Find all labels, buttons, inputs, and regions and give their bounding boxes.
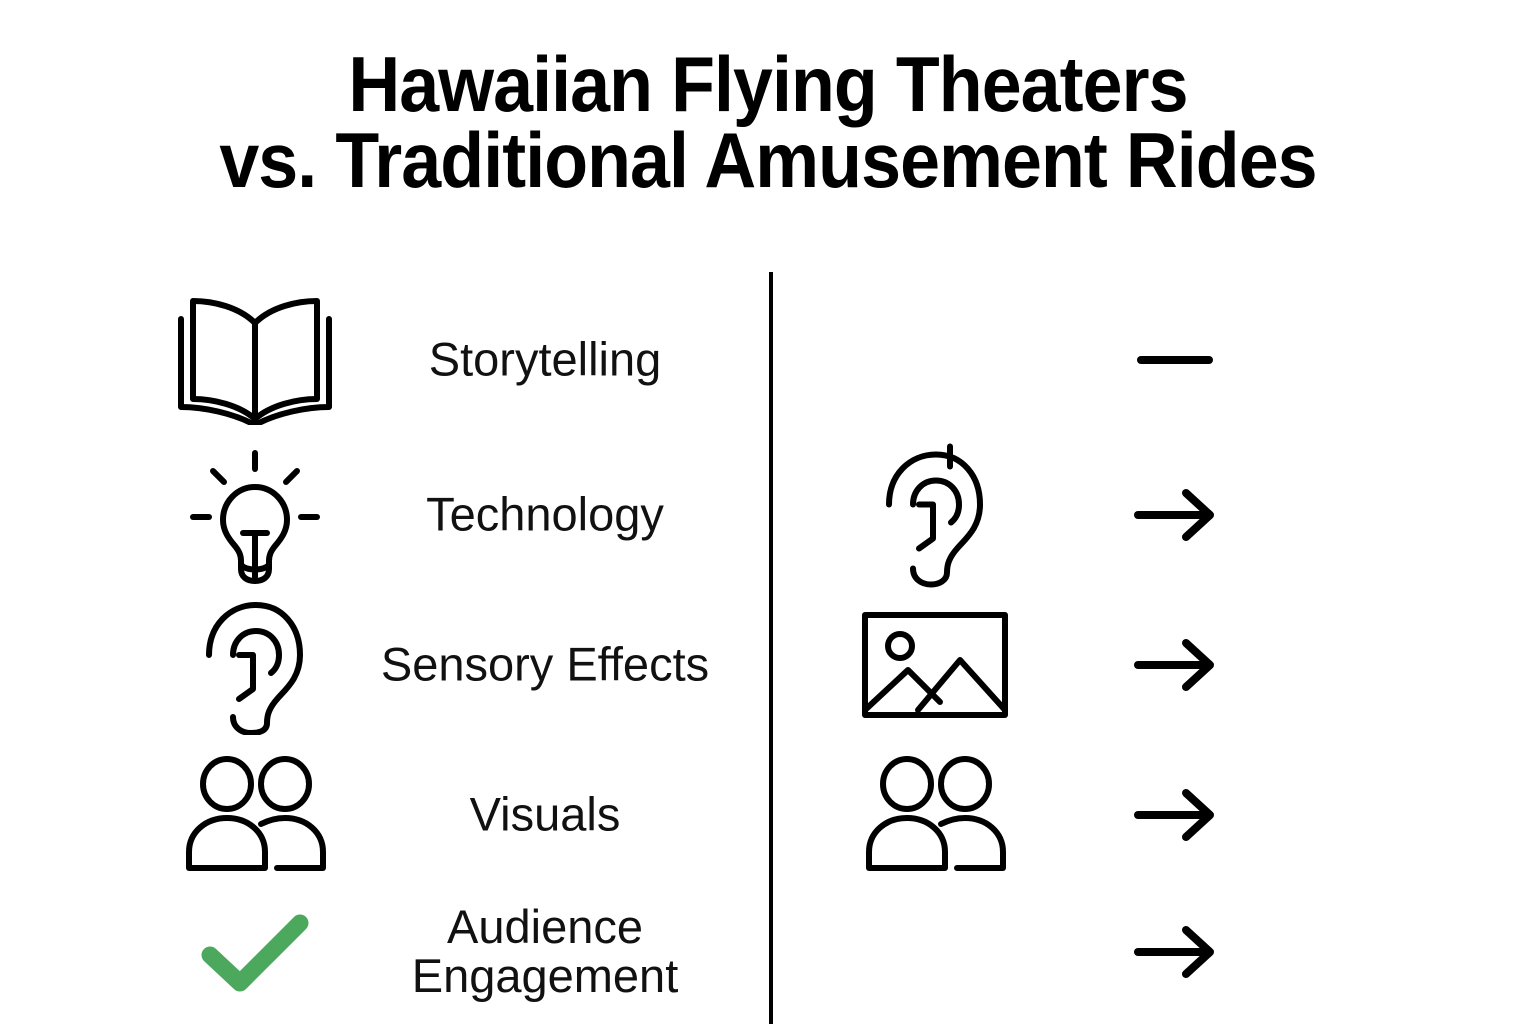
row-label-line-1: Audience — [345, 903, 745, 952]
title-line-1: Hawaiian Flying Theaters — [61, 46, 1474, 122]
comparison-table: Storytelling Technology — [0, 272, 1536, 1024]
people-icon — [170, 756, 340, 874]
table-row: Audience Engagement — [0, 880, 1536, 1024]
open-book-icon — [170, 295, 340, 425]
row-label-line-2: Engagement — [345, 952, 745, 1001]
row-label: Audience Engagement — [345, 903, 745, 1001]
row-label: Sensory Effects — [345, 641, 745, 690]
row-label: Storytelling — [345, 336, 745, 385]
arrow-right-icon — [1100, 485, 1250, 545]
page-title: Hawaiian Flying Theaters vs. Traditional… — [0, 46, 1536, 199]
table-row: Visuals — [0, 740, 1536, 890]
lightbulb-icon — [170, 445, 340, 585]
image-icon — [845, 610, 1025, 720]
table-row: Technology — [0, 440, 1536, 590]
row-label: Visuals — [345, 791, 745, 840]
arrow-right-icon — [1100, 785, 1250, 845]
people-icon — [845, 756, 1025, 874]
table-row: Storytelling — [0, 290, 1536, 430]
arrow-right-icon — [1100, 635, 1250, 695]
dash-mark — [1100, 350, 1250, 370]
title-line-2: vs. Traditional Amusement Rides — [61, 122, 1474, 198]
ear-icon — [170, 595, 340, 735]
ear-icon — [845, 443, 1025, 588]
row-label: Technology — [345, 491, 745, 540]
check-mark-icon — [170, 909, 340, 995]
table-row: Sensory Effects — [0, 590, 1536, 740]
arrow-right-icon — [1100, 922, 1250, 982]
